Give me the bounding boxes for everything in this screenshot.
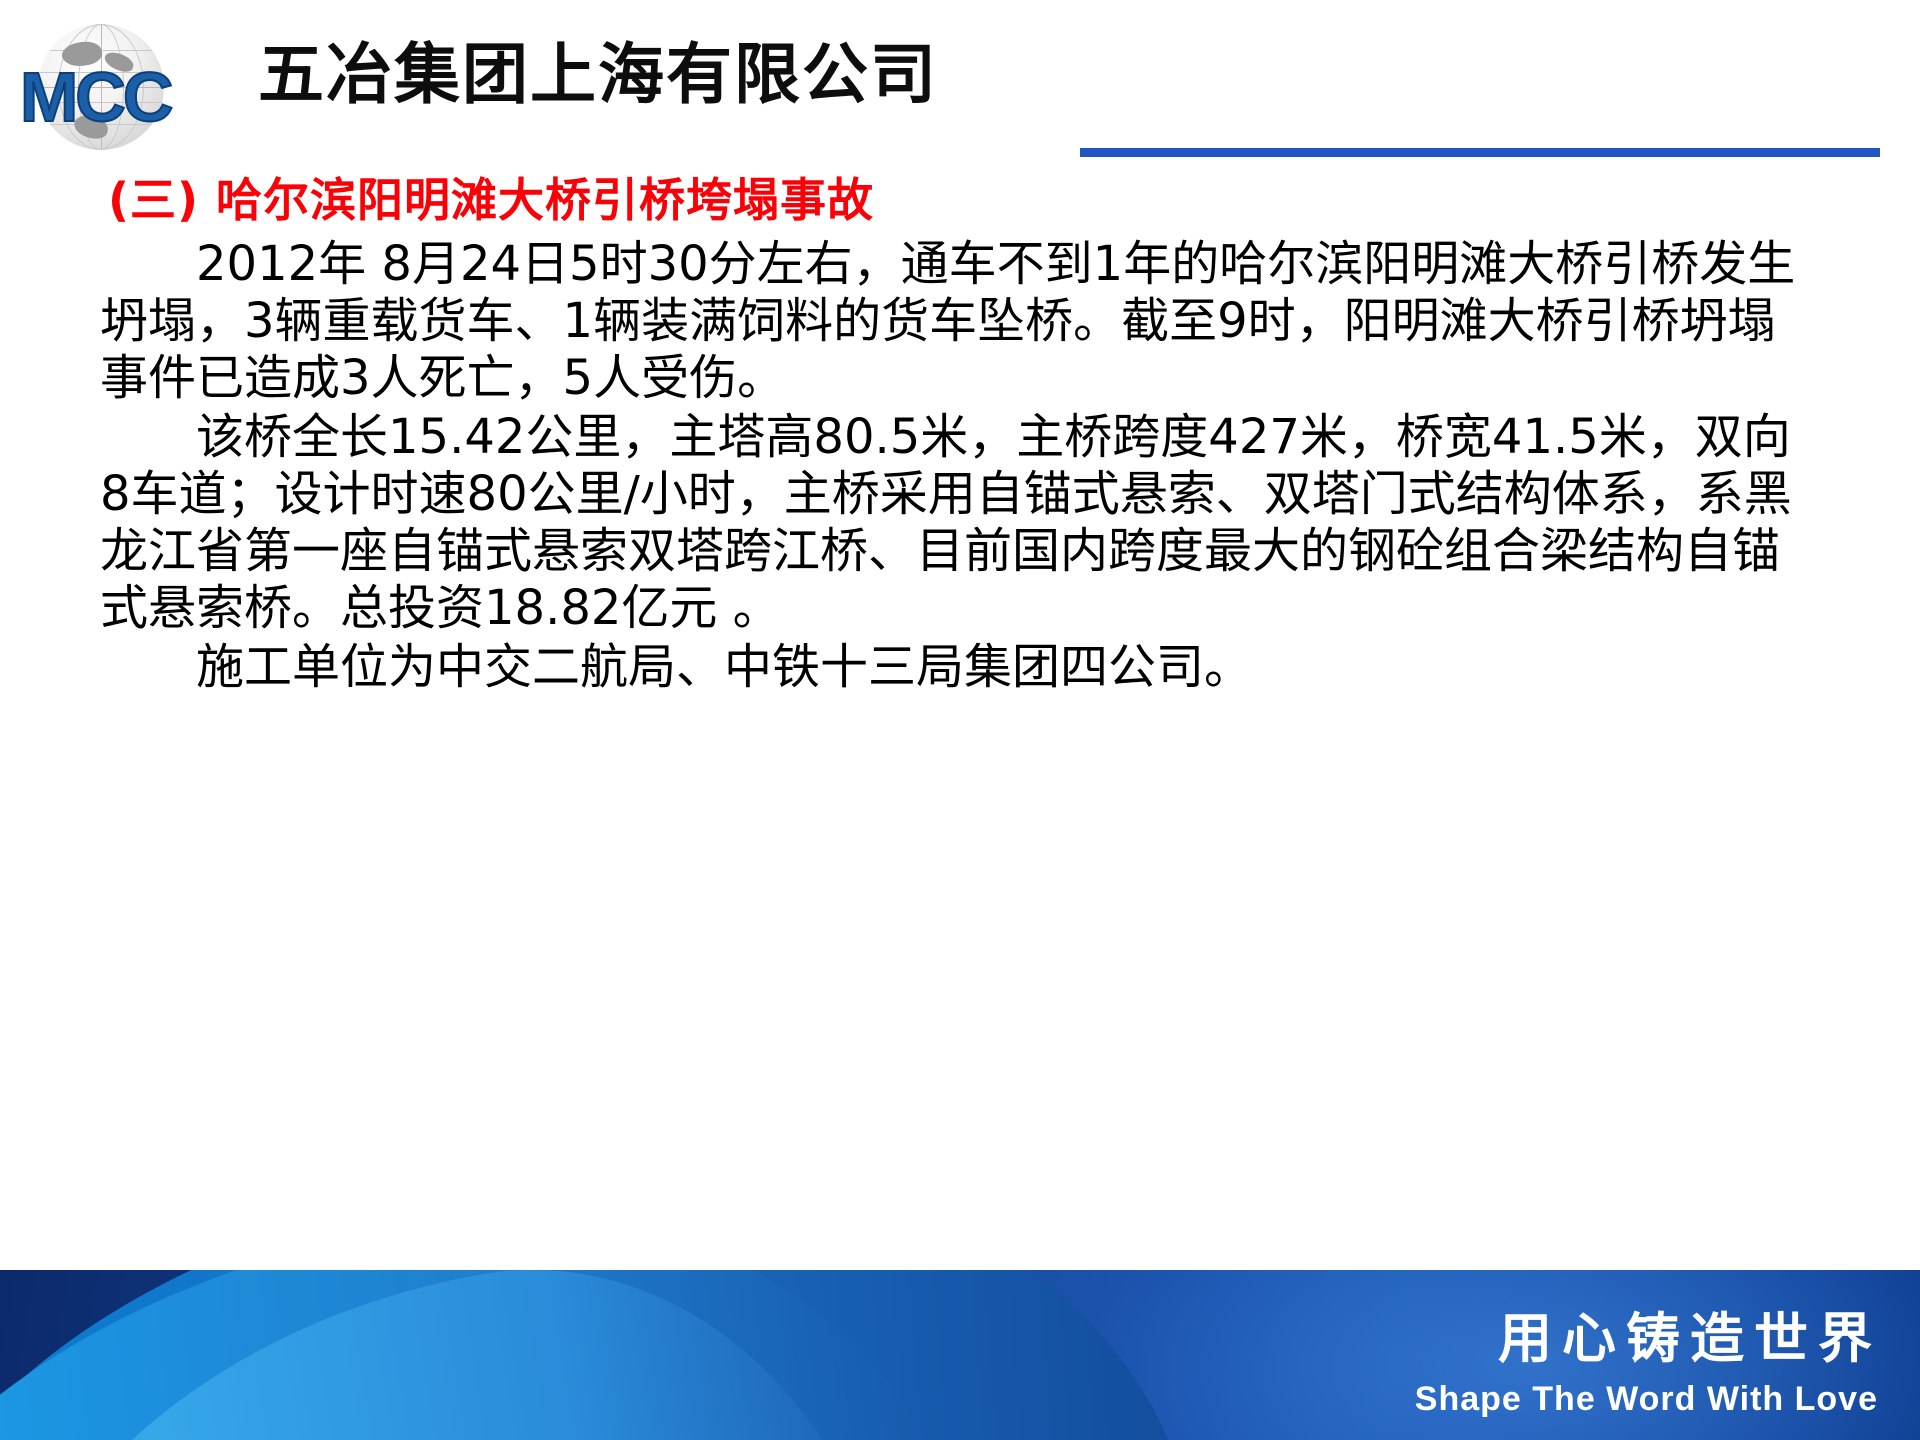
- company-name: 五冶集团上海有限公司: [258, 42, 938, 108]
- mcc-logo: MCC: [20, 22, 245, 152]
- slide-footer: 用心铸造世界 Shape The Word With Love: [0, 1270, 1920, 1440]
- page-title: (三) 哈尔滨阳明滩大桥引桥垮塌事故: [108, 172, 1920, 230]
- header-divider-rule: [1080, 148, 1880, 157]
- paragraph-incident-summary: 2012年 8月24日5时30分左右，通车不到1年的哈尔滨阳明滩大桥引桥发生坍塌…: [100, 236, 1820, 407]
- footer-slogan-english: Shape The Word With Love: [1415, 1382, 1878, 1416]
- paragraph-bridge-specs: 该桥全长15.42公里，主塔高80.5米，主桥跨度427米，桥宽41.5米，双向…: [100, 409, 1820, 637]
- slide-content: (三) 哈尔滨阳明滩大桥引桥垮塌事故 2012年 8月24日5时30分左右，通车…: [0, 172, 1920, 696]
- slide-header: MCC 五冶集团上海有限公司: [0, 0, 1920, 170]
- paragraph-contractors: 施工单位为中交二航局、中铁十三局集团四公司。: [100, 639, 1820, 696]
- footer-slogan-chinese: 用心铸造世界: [1498, 1312, 1882, 1366]
- mcc-wordmark: MCC: [20, 62, 170, 132]
